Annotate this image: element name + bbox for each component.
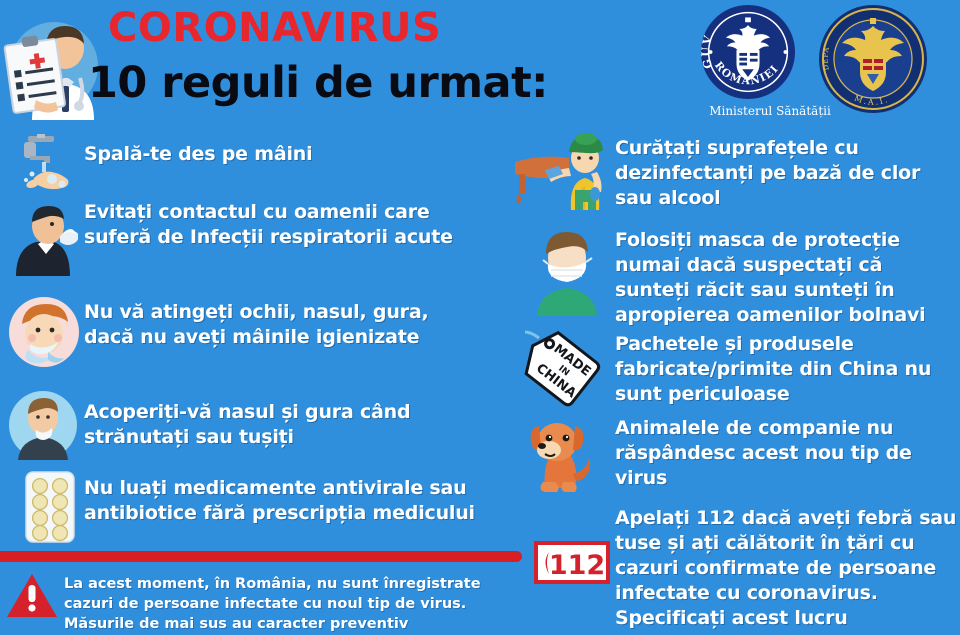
child-cleaning-table-icon <box>513 132 609 210</box>
svg-text:GUVERNUL: GUVERNUL <box>700 4 715 70</box>
rule-text: Folosiți masca de protecție numai dacă s… <box>615 228 960 328</box>
rule-text: Nu vă atingeți ochii, nasul, gura, dacă … <box>84 300 484 350</box>
divider-bar <box>0 551 522 562</box>
footer-line-1: La acest moment, în România, nu sunt înr… <box>64 574 514 594</box>
poster-header: CORONAVIRUS 10 reguli de urmat: GUVERNUL… <box>0 0 960 128</box>
person-wearing-mask-icon <box>529 224 605 316</box>
footer-line-3: Măsurile de mai sus au caracter preventi… <box>64 614 514 634</box>
rule-text: Animalele de companie nu răspândesc aces… <box>615 416 960 491</box>
made-in-china-tag-icon: MADE IN CHINA <box>519 328 605 410</box>
rule-text: Spală-te des pe mâini <box>84 142 484 167</box>
puppy-dog-icon <box>519 412 601 496</box>
departamentul-situatii-urgenta-emblem: DEPARTAMENTUL PENTRU SITUATII DE URGENTA… <box>818 4 928 114</box>
rule-text: Curățați suprafețele cu dezinfectanți pe… <box>615 136 960 211</box>
guvernul-romaniei-emblem: GUVERNUL ROMANIEI <box>700 4 796 100</box>
doctor-with-clipboard-icon <box>2 8 102 120</box>
rule-text: Nu luați medicamente antivirale sau anti… <box>84 476 484 526</box>
coronavirus-infographic: CORONAVIRUS 10 reguli de urmat: GUVERNUL… <box>0 0 960 635</box>
man-sneezing-tissue-icon <box>4 194 78 276</box>
person-covering-mouth-icon <box>8 390 78 460</box>
footer-line-2: cazuri de persoane infectate cu noul tip… <box>64 594 514 614</box>
ministry-label: Ministerul Sănătății <box>690 104 850 118</box>
footer-warning-text: La acest moment, în România, nu sunt înr… <box>64 574 514 634</box>
warning-triangle-icon <box>6 573 58 619</box>
faucet-handwashing-icon <box>6 134 76 198</box>
rule-text: Evitați contactul cu oamenii care suferă… <box>84 200 484 250</box>
rule-text: Apelați 112 dacă aveți febră sau tuse și… <box>615 506 960 635</box>
child-touching-face-icon <box>8 296 80 368</box>
badge-112-label: 112 <box>549 550 605 581</box>
emergency-112-badge-icon[interactable]: 112 <box>533 540 611 585</box>
pill-blister-pack-icon <box>22 470 78 544</box>
page-title: CORONAVIRUS <box>108 6 441 50</box>
government-emblems: GUVERNUL ROMANIEI <box>690 4 955 124</box>
rule-text: Acoperiți-vă nasul și gura când strănuta… <box>84 400 484 450</box>
page-subtitle: 10 reguli de urmat: <box>88 58 548 108</box>
rule-text: Pachetele și produsele fabricate/primite… <box>615 332 960 407</box>
